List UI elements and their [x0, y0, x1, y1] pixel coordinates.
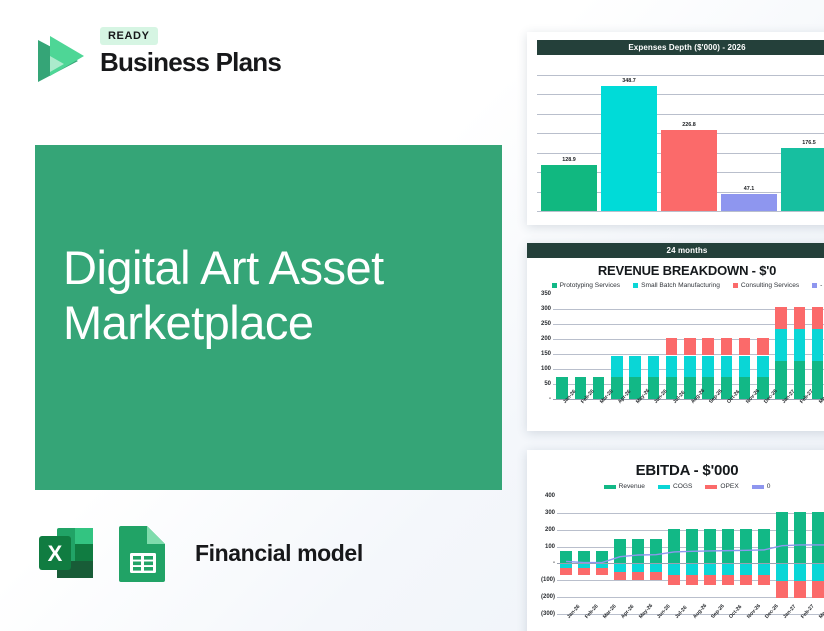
y-axis-tick: -: [553, 560, 555, 566]
revenue-chart-banner: 24 months: [527, 243, 824, 258]
bar-column[interactable]: [701, 496, 719, 614]
bar-column[interactable]: [611, 496, 629, 614]
y-axis-tick: 300: [541, 306, 551, 312]
expenses-bar-column[interactable]: 128.9: [541, 75, 597, 211]
plot-area: [557, 496, 824, 614]
expenses-bar-column[interactable]: 348.7: [601, 75, 657, 211]
bar-segment[interactable]: [758, 575, 770, 585]
zero-line: [557, 563, 824, 564]
bar-column[interactable]: [681, 294, 699, 399]
bar-column[interactable]: [590, 294, 608, 399]
grid-line: [537, 211, 824, 212]
y-axis-tick: 350: [541, 291, 551, 297]
ebitda-chart-title: EBITDA - $'000: [527, 450, 824, 482]
bar-column[interactable]: [717, 294, 735, 399]
legend-swatch: [705, 485, 717, 489]
bar-column[interactable]: [683, 496, 701, 614]
bar-segment[interactable]: [560, 551, 572, 564]
expenses-bar[interactable]: [541, 165, 597, 211]
bar-segment[interactable]: [611, 356, 623, 377]
bar-column[interactable]: [626, 294, 644, 399]
y-axis-tick: 150: [541, 351, 551, 357]
bar-segment[interactable]: [684, 356, 696, 377]
bar-segment[interactable]: [666, 356, 678, 377]
bar-column[interactable]: [557, 496, 575, 614]
ebitda-chart-legend: RevenueCOGSOPEX0: [527, 482, 824, 493]
bar-column[interactable]: [736, 294, 754, 399]
legend-item[interactable]: COGS: [658, 483, 692, 490]
bar-segment[interactable]: [794, 329, 806, 360]
bar-segment[interactable]: [578, 568, 590, 575]
svg-text:X: X: [48, 541, 63, 566]
expenses-bar-column[interactable]: 176.5: [781, 75, 824, 211]
bar-column[interactable]: [644, 294, 662, 399]
legend-label: COGS: [673, 483, 692, 490]
y-axis: 400300200100-(100)(200)(300): [527, 496, 557, 614]
bar-segment[interactable]: [812, 563, 824, 581]
x-axis: Jan-26Feb-26Mar-26Apr-26May-26Jun-26Jul-…: [557, 616, 824, 626]
plot-area: [553, 294, 824, 399]
bar-segment[interactable]: [632, 572, 644, 581]
legend-label: -: [820, 282, 822, 289]
legend-swatch: [733, 283, 738, 288]
y-axis-tick: 300: [545, 510, 555, 516]
legend-swatch: [812, 283, 817, 288]
bar-segment[interactable]: [650, 572, 662, 581]
bar-segment[interactable]: [740, 563, 752, 574]
expenses-bar-column[interactable]: 226.8: [661, 75, 717, 211]
legend-label: 0: [767, 483, 771, 490]
bar-column[interactable]: [773, 496, 791, 614]
legend-item[interactable]: Prototyping Services: [552, 282, 620, 289]
legend-swatch: [658, 485, 670, 489]
bar-segment[interactable]: [668, 529, 680, 564]
expenses-bar[interactable]: [661, 130, 717, 211]
legend-label: Small Batch Manufacturing: [641, 282, 720, 289]
expenses-bar-value: 176.5: [781, 140, 824, 146]
financial-model-label: Financial model: [195, 540, 363, 567]
bar-segment[interactable]: [722, 563, 734, 574]
bar-segment[interactable]: [812, 581, 824, 598]
bar-segment[interactable]: [578, 551, 590, 564]
bar-segment[interactable]: [686, 529, 698, 564]
bar-segment[interactable]: [758, 529, 770, 564]
y-axis-tick: 100: [545, 544, 555, 550]
bar-column[interactable]: [791, 496, 809, 614]
bar-column[interactable]: [719, 496, 737, 614]
bar-segment[interactable]: [721, 338, 733, 356]
y-axis-tick: 100: [541, 366, 551, 372]
bar-segment[interactable]: [614, 572, 626, 581]
bar-segment[interactable]: [632, 539, 644, 563]
bar-segment[interactable]: [650, 539, 662, 563]
bar-segment[interactable]: [812, 512, 824, 564]
bar-segment[interactable]: [776, 563, 788, 581]
bar-segment[interactable]: [614, 563, 626, 571]
bar-segment[interactable]: [775, 307, 787, 329]
y-axis-tick: 200: [541, 336, 551, 342]
format-badges: X Financial model: [35, 522, 363, 584]
bar-segment[interactable]: [757, 356, 769, 377]
bar-column[interactable]: [755, 496, 773, 614]
bar-segment[interactable]: [596, 551, 608, 564]
bar-segment[interactable]: [668, 575, 680, 585]
ready-badge: READY: [100, 27, 158, 45]
legend-swatch: [633, 283, 638, 288]
bar-segment[interactable]: [648, 356, 660, 377]
bar-segment[interactable]: [812, 329, 824, 360]
bar-segment[interactable]: [758, 563, 770, 574]
expenses-bar-column[interactable]: 47.1: [721, 75, 777, 211]
revenue-chart-legend: Prototyping ServicesSmall Batch Manufact…: [527, 281, 824, 292]
brand-logo: READY Business Plans: [28, 26, 288, 96]
legend-item[interactable]: Consulting Services: [733, 282, 799, 289]
bar-segment[interactable]: [704, 529, 716, 564]
legend-label: Prototyping Services: [560, 282, 620, 289]
play-triangle-logo-icon: [28, 30, 90, 92]
bar-segment[interactable]: [739, 356, 751, 377]
bar-segment[interactable]: [560, 568, 572, 575]
y-axis-tick: 400: [545, 493, 555, 499]
bar-column[interactable]: [809, 294, 824, 399]
revenue-chart-title: REVENUE BREAKDOWN - $'0: [527, 258, 824, 281]
bar-segment[interactable]: [686, 575, 698, 585]
bar-column[interactable]: [647, 496, 665, 614]
bar-column[interactable]: [608, 294, 626, 399]
expenses-bar[interactable]: [721, 194, 777, 211]
bar-segment[interactable]: [739, 338, 751, 356]
legend-label: Revenue: [619, 483, 645, 490]
bar-segment[interactable]: [666, 338, 678, 356]
bar-segment[interactable]: [757, 338, 769, 356]
expenses-plot: 128.9348.7226.847.1176.5: [537, 61, 824, 211]
expenses-bar-value: 226.8: [661, 122, 717, 128]
bar-segment[interactable]: [632, 563, 644, 571]
legend-item[interactable]: 0: [752, 483, 771, 490]
page-title: Digital Art Asset Marketplace: [63, 240, 493, 351]
bar-segment[interactable]: [740, 529, 752, 564]
bar-column[interactable]: [737, 496, 755, 614]
bar-column[interactable]: [809, 496, 824, 614]
bar-segment[interactable]: [740, 575, 752, 585]
bar-segment[interactable]: [702, 338, 714, 356]
expenses-bar-value: 348.7: [601, 78, 657, 84]
legend-swatch: [552, 283, 557, 288]
bar-column[interactable]: [593, 496, 611, 614]
bar-column[interactable]: [754, 294, 772, 399]
expenses-bar[interactable]: [781, 148, 824, 211]
y-axis-tick: (200): [541, 594, 555, 600]
bar-segment[interactable]: [776, 512, 788, 564]
bar-column[interactable]: [629, 496, 647, 614]
bar-segment[interactable]: [614, 539, 626, 563]
expenses-chart-title: Expenses Depth ($'000) - 2026: [537, 40, 824, 55]
microsoft-excel-icon: X: [35, 522, 97, 584]
y-axis-tick: -: [549, 396, 551, 402]
bar-segment[interactable]: [721, 356, 733, 377]
bar-column[interactable]: [665, 496, 683, 614]
brand-name: Business Plans: [100, 49, 281, 76]
bar-segment[interactable]: [775, 329, 787, 360]
legend-item[interactable]: -: [812, 282, 822, 289]
expenses-bar[interactable]: [601, 86, 657, 211]
bar-segment[interactable]: [794, 512, 806, 564]
hero-panel: Digital Art Asset Marketplace: [35, 145, 502, 490]
bar-segment[interactable]: [812, 307, 824, 329]
bar-segment[interactable]: [629, 356, 641, 377]
bar-segment[interactable]: [704, 575, 716, 585]
bar-segment[interactable]: [702, 356, 714, 377]
bar-segment[interactable]: [722, 575, 734, 585]
bar-segment[interactable]: [686, 563, 698, 574]
ebitda-chart-card: EBITDA - $'000 RevenueCOGSOPEX0 40030020…: [527, 450, 824, 631]
legend-swatch: [604, 485, 616, 489]
legend-label: Consulting Services: [741, 282, 799, 289]
bar-column[interactable]: [575, 496, 593, 614]
bar-column[interactable]: [790, 294, 808, 399]
bar-column[interactable]: [553, 294, 571, 399]
bar-column[interactable]: [699, 294, 717, 399]
bar-segment[interactable]: [596, 568, 608, 575]
legend-item[interactable]: OPEX: [705, 483, 738, 490]
bar-column[interactable]: [663, 294, 681, 399]
legend-swatch: [752, 485, 764, 489]
y-axis: 35030025020015010050-: [527, 294, 553, 399]
ebitda-plot: 400300200100-(100)(200)(300)Jan-26Feb-26…: [527, 496, 824, 614]
bar-segment[interactable]: [668, 563, 680, 574]
bar-segment[interactable]: [684, 338, 696, 356]
brand-wordmark: READY Business Plans: [100, 26, 281, 76]
x-axis: Jan-26Feb-26Mar-26Apr-26May-26Jun-26Jul-…: [553, 401, 824, 411]
google-sheets-icon: [115, 522, 171, 584]
y-axis-tick: 250: [541, 321, 551, 327]
y-axis-tick: (300): [541, 611, 555, 617]
legend-label: OPEX: [720, 483, 738, 490]
revenue-plot: 35030025020015010050-Jan-26Feb-26Mar-26A…: [527, 294, 824, 399]
bar-segment[interactable]: [794, 307, 806, 329]
bar-segment[interactable]: [794, 581, 806, 598]
expenses-chart-card: Expenses Depth ($'000) - 2026 128.9348.7…: [527, 32, 824, 225]
revenue-chart-card: 24 months REVENUE BREAKDOWN - $'0 Protot…: [527, 243, 824, 431]
y-axis-tick: 50: [544, 381, 551, 387]
expenses-bar-value: 47.1: [721, 186, 777, 192]
legend-item[interactable]: Revenue: [604, 483, 645, 490]
y-axis-tick: 200: [545, 527, 555, 533]
expenses-bar-value: 128.9: [541, 157, 597, 163]
bar-column[interactable]: [772, 294, 790, 399]
y-axis-tick: (100): [541, 577, 555, 583]
legend-item[interactable]: Small Batch Manufacturing: [633, 282, 720, 289]
bar-segment[interactable]: [650, 563, 662, 571]
bar-segment[interactable]: [776, 581, 788, 598]
bar-segment[interactable]: [704, 563, 716, 574]
bar-segment[interactable]: [794, 563, 806, 581]
bar-segment[interactable]: [722, 529, 734, 564]
bar-column[interactable]: [571, 294, 589, 399]
